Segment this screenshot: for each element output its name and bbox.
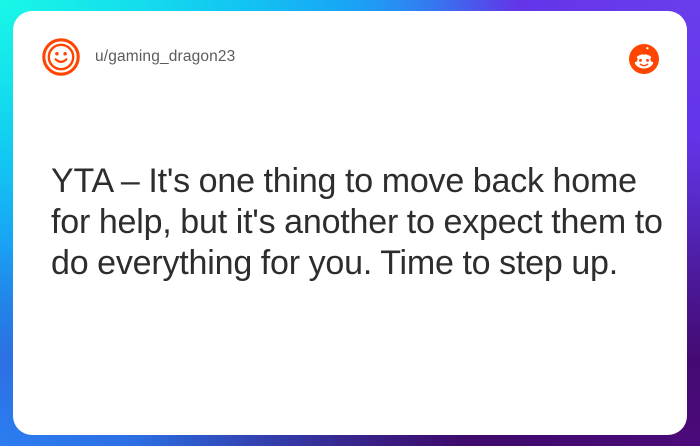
screenshot-root: u/gaming_dragon23 YTA – It's one thing	[0, 0, 700, 446]
smiley-avatar-icon[interactable]	[41, 37, 81, 77]
username-label: u/gaming_dragon23	[95, 48, 235, 66]
reddit-logo-icon[interactable]	[629, 44, 659, 74]
reddit-comment-card: u/gaming_dragon23 YTA – It's one thing	[13, 11, 687, 435]
post-body-text: YTA – It's one thing to move back home f…	[51, 161, 667, 284]
card-header: u/gaming_dragon23	[13, 11, 687, 103]
user-identity[interactable]: u/gaming_dragon23	[41, 37, 235, 77]
